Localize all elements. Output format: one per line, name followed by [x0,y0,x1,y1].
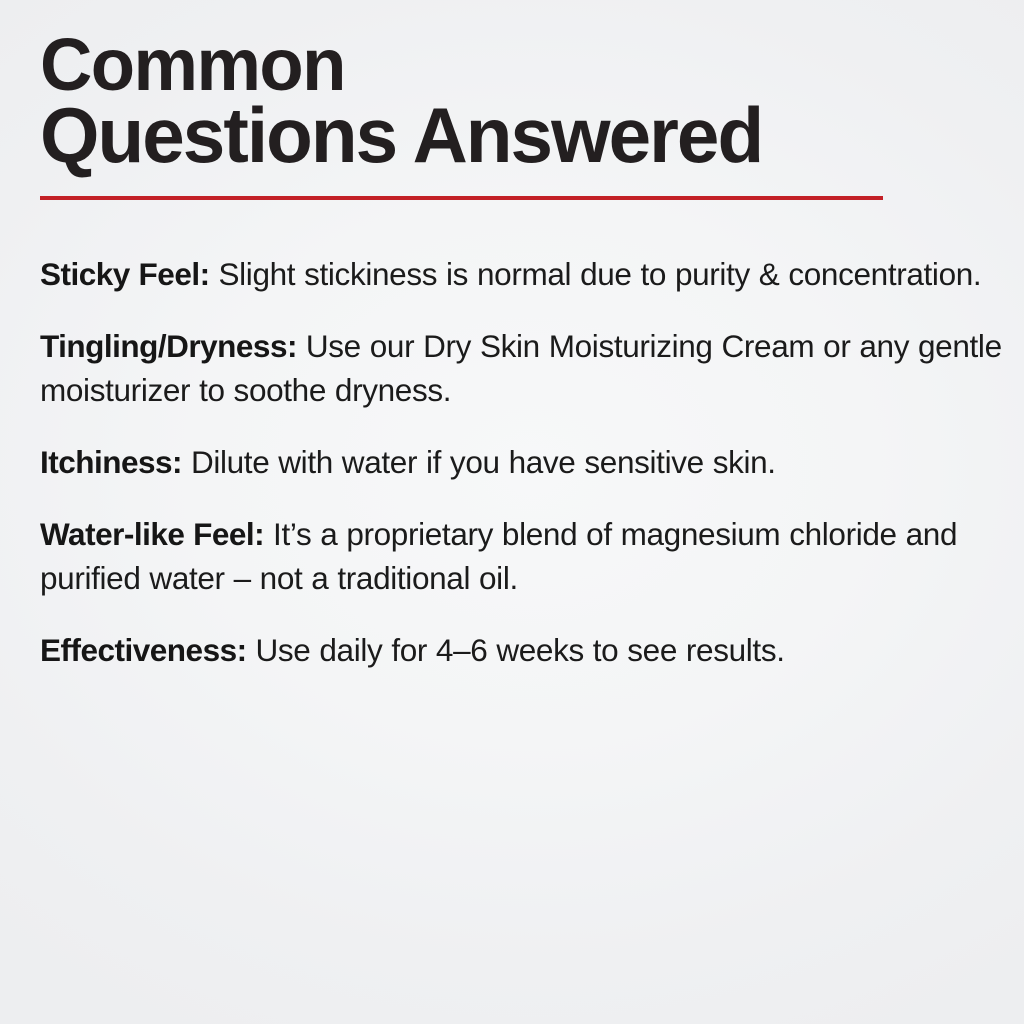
page-title-line-1: Common [40,30,965,100]
faq-answer: Use daily for 4–6 weeks to see results. [247,632,785,668]
red-divider-rule [40,196,883,200]
faq-item-effectiveness: Effectiveness: Use daily for 4–6 weeks t… [40,628,1012,672]
faq-term: Sticky Feel: [40,256,210,292]
faq-list: Sticky Feel: Slight stickiness is normal… [40,252,1012,672]
page-title: Common Questions Answered [40,30,984,170]
faq-term: Water-like Feel: [40,516,264,552]
page-title-line-2: Questions Answered [40,100,965,170]
faq-answer: Slight stickiness is normal due to purit… [210,256,982,292]
poster-header: Common Questions Answered [40,30,984,170]
faq-term: Itchiness: [40,444,182,480]
faq-item-itchiness: Itchiness: Dilute with water if you have… [40,440,1012,484]
faq-item-water-like-feel: Water-like Feel: It’s a proprietary blen… [40,512,1012,600]
faq-term: Tingling/Dryness: [40,328,297,364]
faq-term: Effectiveness: [40,632,247,668]
faq-poster: Common Questions Answered Sticky Feel: S… [0,0,1024,1024]
faq-item-sticky-feel: Sticky Feel: Slight stickiness is normal… [40,252,1012,296]
faq-answer: Dilute with water if you have sensitive … [182,444,776,480]
faq-item-tingling-dryness: Tingling/Dryness: Use our Dry Skin Moist… [40,324,1012,412]
